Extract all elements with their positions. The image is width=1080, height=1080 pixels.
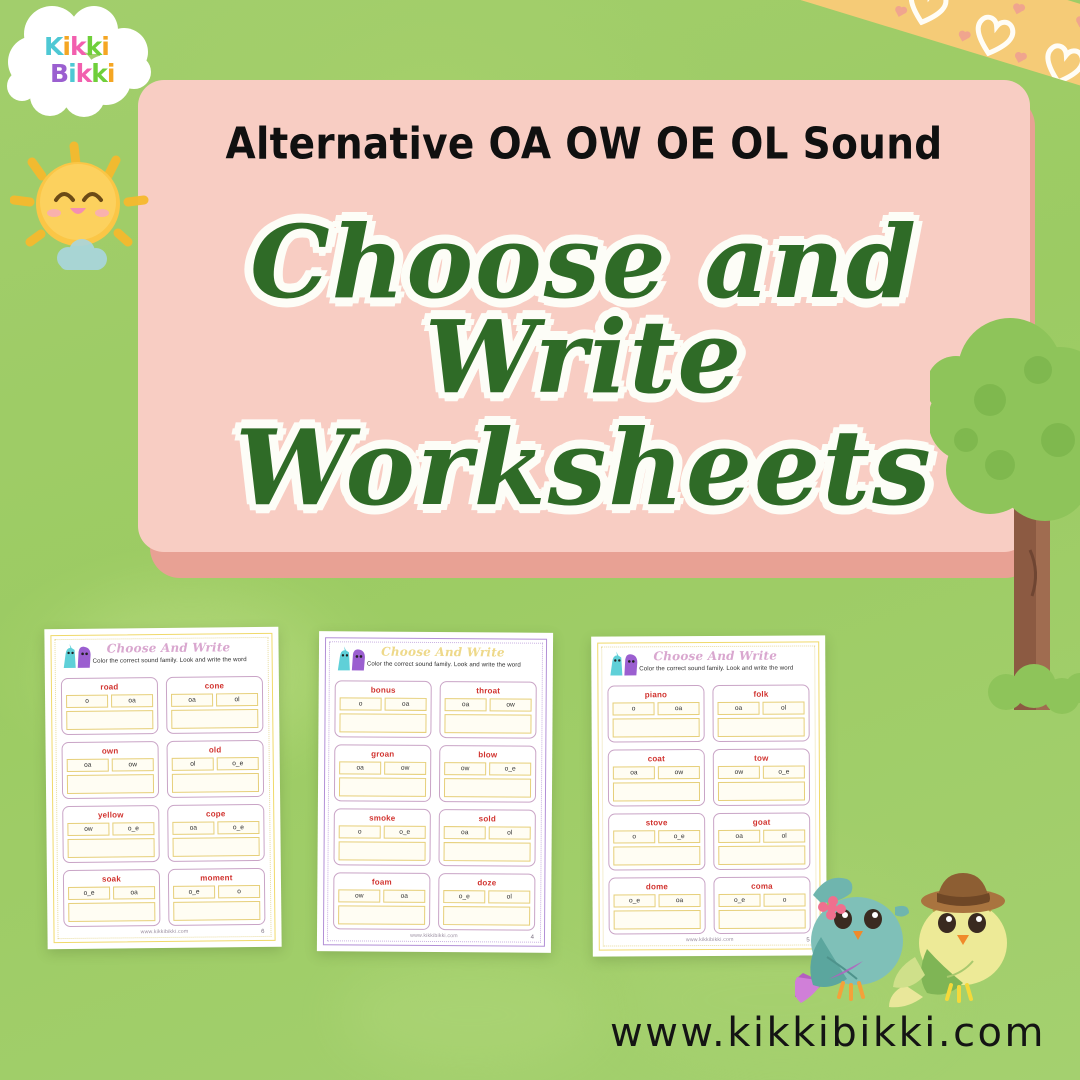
worksheet-page: Choose And Write Color the correct sound…: [323, 637, 547, 947]
choice-option[interactable]: ol: [763, 701, 805, 714]
question-word: coma: [718, 881, 805, 890]
choice-option[interactable]: o: [340, 697, 382, 710]
choice-option[interactable]: oa: [67, 759, 109, 772]
worksheet-page: Choose And Write Color the correct sound…: [597, 641, 821, 950]
answer-line[interactable]: [172, 773, 259, 793]
question-box[interactable]: bonusooa: [334, 680, 431, 738]
worksheet-question-grid: pianoooa folkoaol coatoaow towowo_e stov…: [604, 684, 813, 934]
answer-line[interactable]: [68, 902, 155, 922]
choice-option[interactable]: oa: [613, 766, 655, 779]
question-box[interactable]: soldoaol: [438, 809, 535, 867]
question-word: coat: [613, 754, 700, 763]
answer-line[interactable]: [444, 778, 531, 798]
page-number: 4: [531, 935, 534, 941]
question-box[interactable]: towowo_e: [713, 748, 810, 806]
mini-heart-icon: [1076, 18, 1080, 27]
question-word: smoke: [339, 813, 426, 823]
answer-line[interactable]: [444, 842, 531, 862]
choice-option[interactable]: ow: [338, 889, 380, 902]
mini-heart-icon: [1013, 5, 1022, 14]
question-box[interactable]: ownoaow: [62, 741, 160, 799]
choice-option[interactable]: oa: [659, 894, 701, 907]
logo-wordmark: Kikki Bikki: [30, 34, 135, 86]
site-url[interactable]: www.kikkibikki.com: [0, 1010, 1046, 1056]
question-box[interactable]: stoveoo_e: [608, 813, 705, 871]
choice-option[interactable]: o_e: [763, 765, 805, 778]
worksheet-footer: www.kikkibikki.com 6: [64, 928, 264, 936]
card-subtitle: Alternative OA OW OE OL Sound: [138, 119, 1030, 169]
choice-option[interactable]: o_e: [658, 830, 700, 843]
question-word: throat: [445, 686, 532, 696]
choice-option[interactable]: ol: [763, 829, 805, 842]
choice-option[interactable]: oa: [385, 698, 427, 711]
choice-option[interactable]: o: [66, 695, 108, 708]
heart-icon: [899, 0, 956, 32]
question-word: cope: [172, 809, 259, 819]
question-word: yellow: [67, 810, 154, 820]
answer-line[interactable]: [613, 782, 700, 801]
answer-line[interactable]: [339, 713, 426, 733]
question-word: doze: [443, 878, 530, 888]
question-box[interactable]: coneoaol: [166, 676, 264, 734]
choice-option[interactable]: ow: [112, 758, 154, 771]
question-word: bonus: [340, 685, 427, 695]
birds-illustration: [795, 845, 1035, 1035]
mini-heart-icon: [959, 32, 968, 41]
question-box[interactable]: copeoao_e: [167, 804, 265, 862]
question-box[interactable]: soako_eoa: [63, 869, 161, 927]
answer-line[interactable]: [173, 837, 260, 857]
answer-line[interactable]: [339, 777, 426, 797]
choice-option[interactable]: oa: [339, 761, 381, 774]
question-box[interactable]: momento_eo: [168, 868, 266, 926]
mascot-icon: [336, 646, 368, 672]
tree-icon: [930, 300, 1080, 730]
question-word: dome: [613, 882, 700, 891]
question-word: piano: [612, 690, 699, 699]
answer-line[interactable]: [68, 838, 155, 858]
question-word: old: [172, 745, 259, 755]
question-word: moment: [173, 873, 260, 883]
choice-option[interactable]: o_e: [614, 894, 656, 907]
footer-url: www.kikkibikki.com: [686, 937, 734, 943]
worksheet-footer: www.kikkibikki.com 4: [334, 932, 534, 939]
choice-option[interactable]: ol: [216, 693, 258, 706]
choice-option[interactable]: oa: [172, 821, 214, 834]
question-word: foam: [338, 877, 425, 887]
choice-option[interactable]: oa: [113, 886, 155, 899]
worksheet-preview[interactable]: Choose And Write Color the correct sound…: [44, 627, 281, 949]
question-box[interactable]: throatoaow: [439, 681, 536, 739]
worksheet-question-grid: roadooa coneoaol ownoaow oldolo_e yellow…: [58, 676, 269, 927]
question-box[interactable]: dozeo_eol: [438, 873, 535, 931]
choice-option[interactable]: o_e: [443, 890, 485, 903]
worksheet-title: Choose And Write: [71, 640, 265, 656]
question-box[interactable]: oldolo_e: [167, 740, 265, 798]
question-word: cone: [171, 681, 258, 691]
choice-option[interactable]: oa: [718, 702, 760, 715]
card-title-script: Choose and Write Worksheets: [138, 215, 1030, 518]
question-word: groan: [339, 749, 426, 759]
choice-option[interactable]: o_e: [217, 757, 259, 770]
mini-heart-icon: [1015, 53, 1024, 62]
choice-option[interactable]: oa: [383, 890, 425, 903]
sun-icon: [10, 138, 160, 288]
answer-line[interactable]: [719, 909, 806, 928]
question-box[interactable]: domeo_eoa: [608, 877, 705, 935]
answer-line[interactable]: [443, 906, 530, 926]
question-word: stove: [613, 818, 700, 827]
yellow-bird-icon: [889, 873, 1007, 1007]
logo-line-2: Bikki: [50, 61, 135, 86]
choice-option[interactable]: o_e: [489, 762, 531, 775]
choice-option[interactable]: oa: [445, 698, 487, 711]
question-box[interactable]: blowowo_e: [439, 745, 536, 803]
answer-line[interactable]: [718, 845, 805, 864]
answer-line[interactable]: [613, 846, 700, 865]
title-card: Alternative OA OW OE OL Sound Choose and…: [138, 80, 1030, 552]
choice-option[interactable]: ol: [488, 890, 530, 903]
choice-option[interactable]: o: [218, 885, 260, 898]
worksheet-header: Choose And Write Color the correct sound…: [332, 644, 540, 675]
page-number: 6: [261, 929, 264, 935]
question-box[interactable]: folkoaol: [712, 684, 809, 742]
answer-line[interactable]: [338, 905, 425, 925]
bird-characters: [795, 845, 1035, 1035]
choice-option[interactable]: o: [339, 825, 381, 838]
choice-option[interactable]: oa: [111, 694, 153, 707]
worksheet-subtitle: Color the correct sound family. Look and…: [74, 656, 266, 665]
answer-line[interactable]: [171, 709, 258, 729]
choice-option[interactable]: ow: [718, 766, 760, 779]
choice-option[interactable]: ow: [490, 698, 532, 711]
question-word: sold: [444, 814, 531, 824]
question-box[interactable]: coatoaow: [608, 749, 705, 807]
worksheet-subtitle: Color the correct sound family. Look and…: [620, 664, 812, 672]
choice-option[interactable]: o_e: [173, 885, 215, 898]
choice-option[interactable]: ol: [489, 826, 531, 839]
answer-line[interactable]: [173, 901, 260, 921]
answer-line[interactable]: [613, 718, 700, 737]
question-word: tow: [718, 753, 805, 762]
question-box[interactable]: groanoaow: [334, 744, 431, 802]
card-title-line1: Choose and Write: [138, 215, 1030, 405]
question-box[interactable]: roadooa: [61, 677, 159, 735]
worksheet-subtitle: Color the correct sound family. Look and…: [348, 660, 540, 668]
card-title-line2: Worksheets: [138, 419, 1030, 518]
worksheet-question-grid: bonusooa throatoaow groanoaow blowowo_e …: [330, 680, 540, 930]
question-word: own: [67, 746, 154, 756]
heart-icon: [835, 0, 892, 1]
brand-logo[interactable]: Kikki Bikki: [6, 4, 156, 126]
choice-option[interactable]: o_e: [112, 822, 154, 835]
choice-option[interactable]: o_e: [217, 821, 259, 834]
sun-illustration: [10, 138, 160, 288]
question-box[interactable]: pianoooa: [607, 685, 704, 743]
worksheet-preview[interactable]: Choose And Write Color the correct sound…: [317, 631, 553, 953]
question-word: road: [66, 682, 153, 692]
choice-option[interactable]: o_e: [68, 887, 110, 900]
worksheet-page: Choose And Write Color the correct sound…: [50, 633, 275, 943]
footer-url: www.kikkibikki.com: [141, 929, 189, 935]
choice-option[interactable]: o: [613, 830, 655, 843]
answer-line[interactable]: [66, 710, 153, 730]
answer-line[interactable]: [339, 841, 426, 861]
worksheet-header: Choose And Write Color the correct sound…: [57, 640, 265, 672]
question-word: soak: [68, 874, 155, 884]
teal-bird-icon: [795, 878, 909, 1003]
mascot-icon: [61, 644, 93, 670]
question-box[interactable]: smokeoo_e: [333, 808, 430, 866]
worksheet-footer: www.kikkibikki.com 5: [610, 936, 810, 943]
choice-option[interactable]: o_e: [384, 826, 426, 839]
question-word: blow: [444, 750, 531, 760]
choice-option[interactable]: o_e: [719, 894, 761, 907]
answer-line[interactable]: [614, 910, 701, 929]
logo-line-1: Kikki: [44, 34, 135, 59]
choice-option[interactable]: o: [613, 702, 655, 715]
choice-option[interactable]: ow: [384, 762, 426, 775]
question-box[interactable]: yellowowo_e: [62, 805, 160, 863]
mascot-icon: [608, 651, 640, 677]
choice-option[interactable]: ol: [172, 757, 214, 770]
question-word: goat: [718, 817, 805, 826]
choice-option[interactable]: ow: [67, 823, 109, 836]
worksheet-title: Choose And Write: [618, 648, 812, 663]
choice-option[interactable]: oa: [171, 693, 213, 706]
question-box[interactable]: foamowoa: [333, 872, 430, 930]
choice-option[interactable]: ow: [658, 766, 700, 779]
tree-illustration: [930, 300, 1080, 730]
choice-option[interactable]: oa: [718, 830, 760, 843]
choice-option[interactable]: oa: [658, 702, 700, 715]
answer-line[interactable]: [444, 714, 531, 734]
question-word: folk: [717, 689, 804, 698]
worksheet-header: Choose And Write Color the correct sound…: [604, 648, 812, 679]
choice-option[interactable]: ow: [444, 762, 486, 775]
worksheet-preview[interactable]: Choose And Write Color the correct sound…: [591, 635, 827, 956]
choice-option[interactable]: oa: [444, 826, 486, 839]
answer-line[interactable]: [67, 774, 154, 794]
answer-line[interactable]: [718, 781, 805, 800]
answer-line[interactable]: [718, 717, 805, 736]
worksheet-title: Choose And Write: [346, 644, 540, 659]
footer-url: www.kikkibikki.com: [410, 933, 458, 939]
